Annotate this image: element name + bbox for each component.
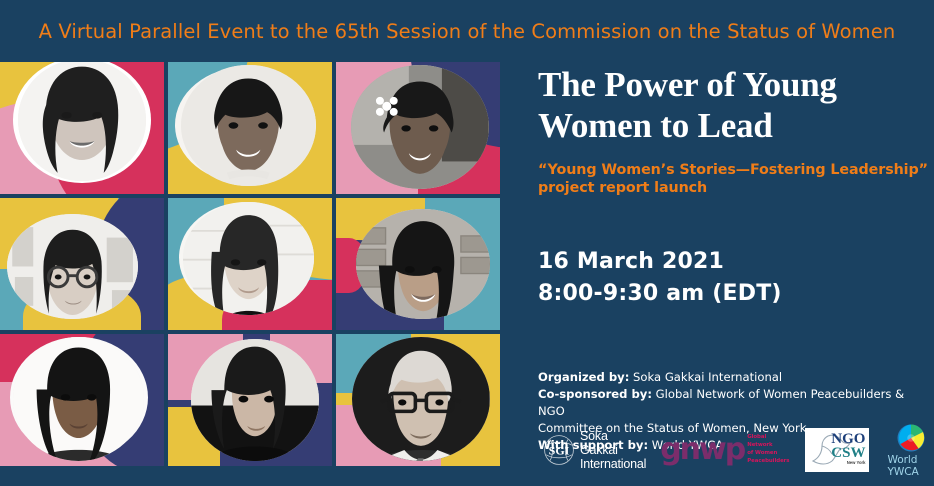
- ngo-text: NGO: [831, 432, 865, 446]
- portrait-photo: [181, 65, 315, 186]
- portrait-photo: [7, 214, 138, 320]
- speaker-portrait-3: [351, 65, 489, 189]
- world-ywca-wordmark: World YWCA: [887, 454, 934, 478]
- title-line-2: Women to Lead: [538, 105, 934, 146]
- subtitle-line-2: project report launch: [538, 179, 934, 198]
- event-time: 8:00-9:30 am (EDT): [538, 278, 934, 309]
- speaker-portrait-4: [7, 214, 138, 320]
- event-date: 16 March 2021: [538, 246, 934, 277]
- gnwp-tagline-3: Peacebuilders: [747, 458, 789, 466]
- event-datetime: 16 March 2021 8:00-9:30 am (EDT): [538, 246, 934, 308]
- world-ywca-globe-icon: [896, 423, 926, 453]
- csw-text: CSW: [831, 446, 865, 460]
- credit-cosponsored-label: Co-sponsored by:: [538, 387, 652, 401]
- sponsor-logo-row: SGI Soka Gakkai International gnwp Globa…: [543, 420, 934, 480]
- portrait-photo: [191, 339, 319, 460]
- collage-tile-9: [336, 334, 500, 466]
- logo-gnwp: gnwp Global Network of Women Peacebuilde…: [660, 434, 789, 465]
- portrait-photo: [13, 337, 144, 461]
- sgi-line-2: International: [580, 457, 646, 471]
- speaker-portrait-7: [13, 337, 144, 461]
- credit-organized-value: Soka Gakkai International: [629, 370, 782, 384]
- gnwp-wordmark: gnwp: [660, 438, 744, 462]
- sgi-emblem-icon: SGI: [543, 434, 575, 466]
- credit-cosponsored: Co-sponsored by: Global Network of Women…: [538, 386, 934, 420]
- logo-soka-gakkai-international: SGI Soka Gakkai International: [543, 429, 646, 471]
- credit-organized: Organized by: Soka Gakkai International: [538, 369, 934, 386]
- portrait-photo: [356, 209, 490, 320]
- speaker-portrait-9: [352, 337, 490, 461]
- speaker-portrait-6: [356, 209, 490, 320]
- collage-tile-4: [0, 198, 164, 330]
- gnwp-tagline-2: of Women: [747, 450, 789, 458]
- gnwp-tagline: Global Network of Women Peacebuilders: [747, 434, 789, 465]
- collage-tile-7: [0, 334, 164, 466]
- credit-organized-label: Organized by:: [538, 370, 629, 384]
- speaker-portrait-5: [183, 202, 314, 316]
- portrait-photo: [352, 337, 490, 461]
- logo-world-ywca: World YWCA: [887, 423, 934, 478]
- banner-text: A Virtual Parallel Event to the 65th Ses…: [39, 20, 896, 43]
- speaker-portrait-1: [18, 62, 146, 181]
- portrait-photo: [18, 62, 146, 181]
- event-subtitle: “Young Women’s Stories—Fostering Leaders…: [538, 161, 934, 199]
- new-york-text: New York: [831, 461, 865, 465]
- sgi-wordmark: Soka Gakkai International: [580, 429, 646, 471]
- collage-tile-2: [168, 62, 332, 194]
- sgi-line-1: Soka Gakkai: [580, 429, 646, 457]
- speaker-photo-collage: [0, 62, 500, 466]
- speaker-portrait-8: [191, 339, 319, 460]
- collage-tile-8: [168, 334, 332, 466]
- portrait-photo: [183, 202, 314, 316]
- page-title: The Power of Young Women to Lead: [538, 64, 934, 147]
- collage-tile-3: [336, 62, 500, 194]
- ngo-csw-wordmark: NGO CSW New York: [831, 432, 865, 465]
- collage-tile-5: [168, 198, 332, 330]
- sgi-monogram: SGI: [549, 443, 570, 457]
- event-banner: A Virtual Parallel Event to the 65th Ses…: [0, 0, 934, 62]
- subtitle-line-1: “Young Women’s Stories—Fostering Leaders…: [538, 161, 934, 180]
- collage-tile-1: [0, 62, 164, 194]
- portrait-photo: [351, 65, 489, 189]
- title-line-1: The Power of Young: [538, 64, 934, 105]
- gnwp-tagline-1: Global Network: [747, 434, 789, 450]
- speaker-portrait-2: [181, 65, 315, 186]
- collage-tile-6: [336, 198, 500, 330]
- logo-ngo-csw-new-york: NGO CSW New York: [805, 428, 869, 472]
